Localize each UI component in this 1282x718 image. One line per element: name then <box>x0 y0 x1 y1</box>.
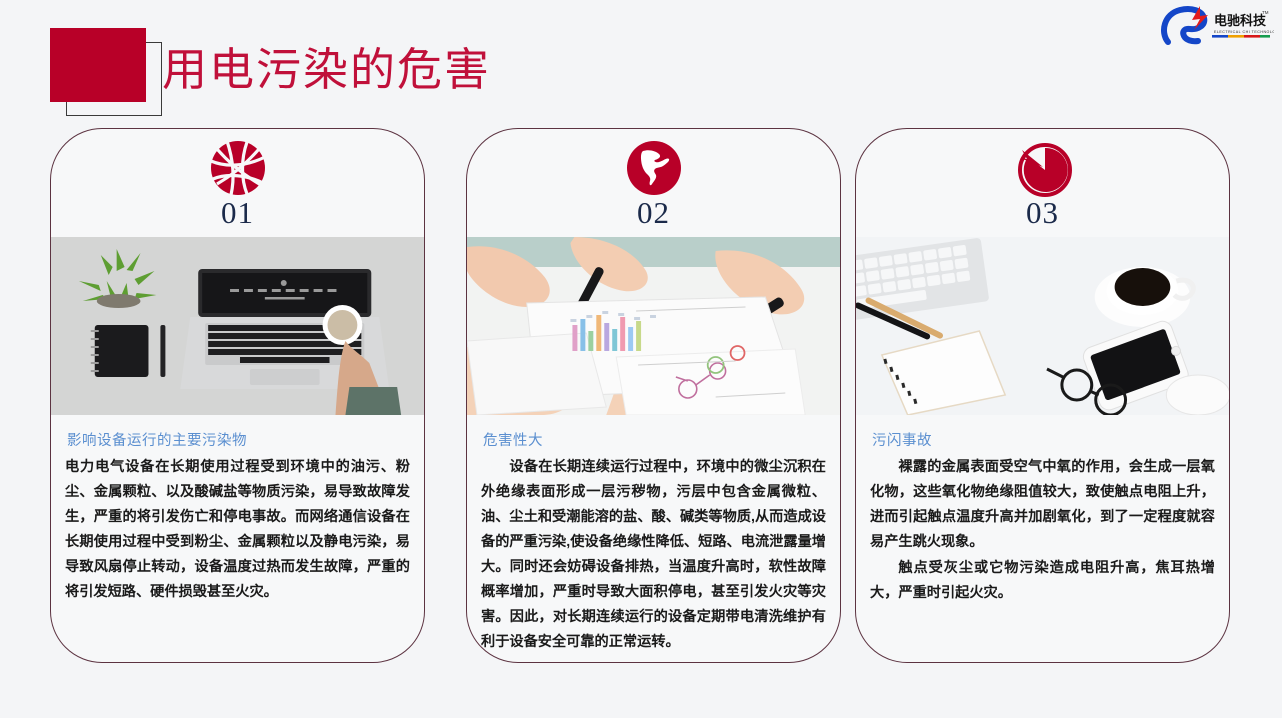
card-paragraph-01: 电力电气设备在长期使用过程受到环境中的油污、粉尘、金属颗粒、以及酸碱盐等物质污染… <box>65 455 410 605</box>
card-header-01: 01 <box>51 129 424 237</box>
card-body-02: 危害性大 设备在长期连续运行过程中，环境中的微尘沉积在外绝缘表面形成一层污秽物，… <box>467 415 840 655</box>
page-title: 用电污染的危害 <box>162 30 491 110</box>
card-body-03: 污闪事故 裸露的金属表面受空气中氧的作用，会生成一层氧化物，这些氧化物绝缘阻值较… <box>856 415 1229 606</box>
svg-text:TM: TM <box>1262 10 1269 15</box>
svg-text:ELECTRICAL CHI TECHNOLOGY: ELECTRICAL CHI TECHNOLOGY <box>1214 30 1274 34</box>
card-title-02: 危害性大 <box>483 429 826 450</box>
globe-network-icon <box>207 137 269 199</box>
cards-container: 01 <box>0 128 1282 668</box>
svg-text:电驰科技: 电驰科技 <box>1214 13 1267 28</box>
card-photo-01 <box>51 237 424 415</box>
card-photo-03 <box>856 237 1229 415</box>
card-number-02: 02 <box>467 195 840 231</box>
card-title-01: 影响设备运行的主要污染物 <box>67 429 410 450</box>
card-paragraph-03-b: 触点受灰尘或它物污染造成电阻升高，焦耳热增大，严重时引起火灾。 <box>870 556 1215 606</box>
card-number-03: 03 <box>856 195 1229 231</box>
card-paragraph-02: 设备在长期连续运行过程中，环境中的微尘沉积在外绝缘表面形成一层污秽物，污层中包含… <box>481 455 826 655</box>
card-body-01: 影响设备运行的主要污染物 电力电气设备在长期使用过程受到环境中的油污、粉尘、金属… <box>51 415 424 605</box>
card-header-02: 02 <box>467 129 840 237</box>
card-photo-02 <box>467 237 840 415</box>
card-title-03: 污闪事故 <box>872 429 1215 450</box>
info-card-02[interactable]: 02 <box>466 128 841 663</box>
card-number-01: 01 <box>51 195 424 231</box>
globe-americas-icon <box>623 137 685 199</box>
title-accent-square <box>50 28 146 102</box>
card-header-03: 03 <box>856 129 1229 237</box>
company-logo: 电驰科技 ELECTRICAL CHI TECHNOLOGY TM <box>1156 2 1274 46</box>
pie-chart-slice-icon <box>1012 137 1074 199</box>
card-paragraph-03-a: 裸露的金属表面受空气中氧的作用，会生成一层氧化物，这些氧化物绝缘阻值较大，致使触… <box>870 455 1215 555</box>
info-card-03[interactable]: 03 <box>855 128 1230 663</box>
info-card-01[interactable]: 01 <box>50 128 425 663</box>
